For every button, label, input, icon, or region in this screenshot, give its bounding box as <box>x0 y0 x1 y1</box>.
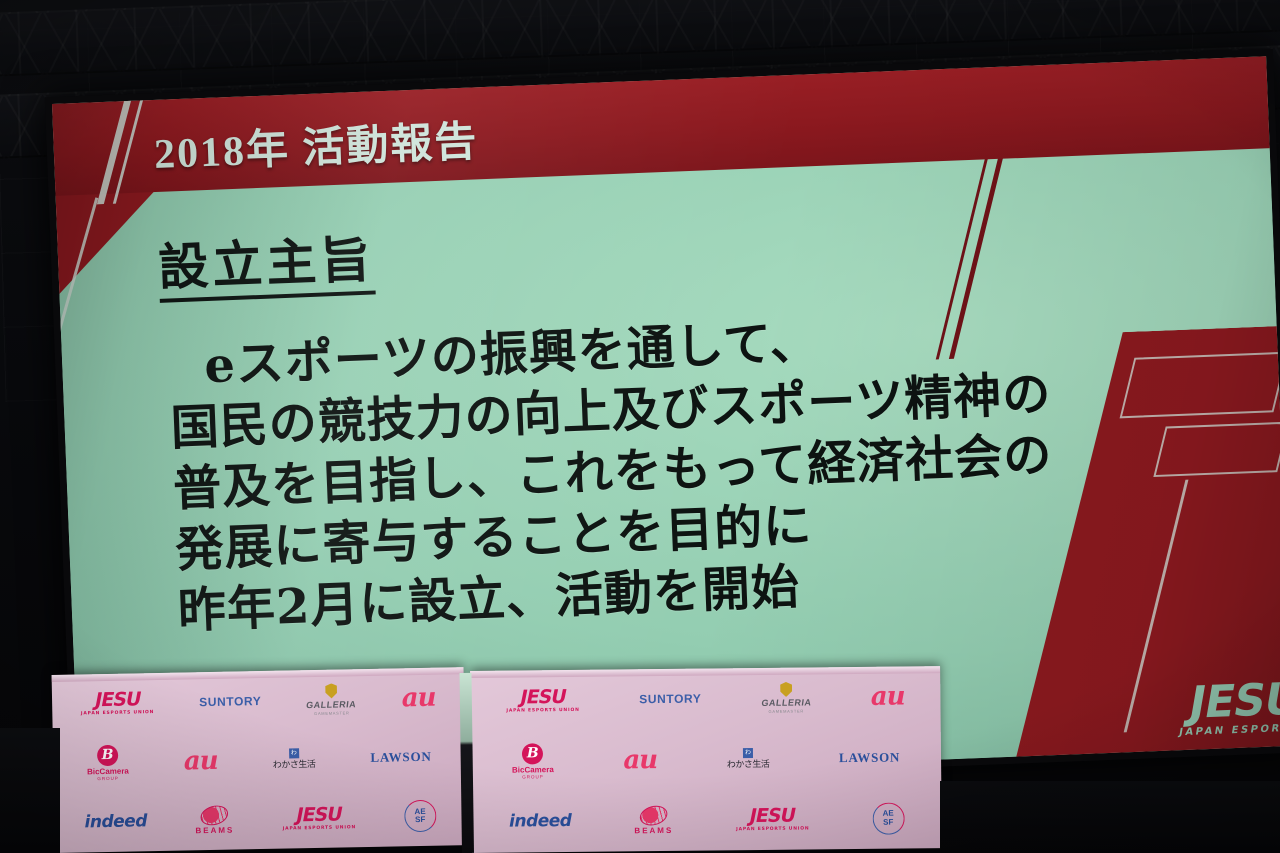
sponsor-logo-galleria: GALLERIAGAMEMASTER <box>306 683 357 716</box>
sponsor-logo-lawson: LAWSON <box>839 751 900 765</box>
sponsor-logo-row: BBicCameraGROUPauわわかさ生活LAWSON <box>471 727 942 793</box>
wakasa-mark-icon: わ <box>289 748 299 758</box>
jesu-logo-wordmark: JESU <box>1180 679 1280 725</box>
sponsor-logo-beams: BEAMS <box>195 805 234 835</box>
slide-section-heading: 設立主旨 <box>157 233 375 302</box>
galleria-crest-icon <box>780 682 792 697</box>
sponsor-logo-aesf: AESF <box>404 800 437 833</box>
sponsor-logo-aesf: AESF <box>872 802 904 834</box>
backdrop-panel-gap <box>459 673 474 853</box>
sponsor-logo-indeed: indeed <box>509 813 572 831</box>
sponsor-logo-au: au <box>184 748 218 775</box>
galleria-crest-icon <box>325 683 337 698</box>
slide-corner-jesu-logo: JESU JAPAN ESPORTS <box>1178 679 1280 739</box>
screenshot-stage: JESU JAPAN ESPORTS 2018年 活動報告 設立主旨 eスポーツ… <box>0 0 1280 853</box>
sponsor-logo-galleria: GALLERIAGAMEMASTER <box>761 682 811 715</box>
sponsor-logo-wakasa: わわかさ生活 <box>273 748 316 771</box>
sponsor-backdrop-right: JESUJAPAN ESPORTS UNIONSUNTORYGALLERIAGA… <box>470 666 942 853</box>
sponsor-logo-row: indeedBEAMSJESUJAPAN ESPORTS UNIONAESF <box>471 787 942 853</box>
stage-floor-left-shadow <box>0 728 60 853</box>
sponsor-logo-jesu: JESUJAPAN ESPORTS UNION <box>736 806 810 832</box>
sponsor-logo-jesu: JESUJAPAN ESPORTS UNION <box>80 690 154 717</box>
aesf-ring-icon: AESF <box>404 800 437 833</box>
biccamera-b-icon: B <box>522 743 543 764</box>
sponsor-logo-biccamera: BBicCameraGROUP <box>87 744 130 781</box>
sponsor-logo-au: au <box>623 747 657 773</box>
sponsor-logo-jesu: JESUJAPAN ESPORTS UNION <box>282 805 356 832</box>
beams-globe-icon <box>638 803 670 828</box>
sponsor-logo-suntory: SUNTORY <box>199 695 261 708</box>
stage-floor-right-shadow <box>940 781 1280 853</box>
sponsor-logo-suntory: SUNTORY <box>639 693 701 706</box>
wakasa-mark-icon: わ <box>743 748 753 758</box>
beams-globe-icon <box>199 802 231 828</box>
slide-body-text: eスポーツの振興を通して、 国民の競技力の向上及びスポーツ精神の 普及を目指し、… <box>167 298 1198 643</box>
sponsor-logo-au: au <box>871 684 905 710</box>
sponsor-logo-row: BBicCameraGROUPauわわかさ生活LAWSON <box>53 726 466 793</box>
sponsor-logo-jesu: JESUJAPAN ESPORTS UNION <box>506 687 580 713</box>
sponsor-logo-au: au <box>401 684 435 711</box>
sponsor-logo-row: indeedBEAMSJESUJAPAN ESPORTS UNIONAESF <box>54 786 467 853</box>
slide-title: 2018年 活動報告 <box>153 107 480 181</box>
sponsor-logo-wakasa: わわかさ生活 <box>727 748 770 770</box>
sponsor-logo-row: JESUJAPAN ESPORTS UNIONSUNTORYGALLERIAGA… <box>470 666 941 732</box>
sponsor-logo-row: JESUJAPAN ESPORTS UNIONSUNTORYGALLERIAGA… <box>52 667 465 734</box>
aesf-ring-icon: AESF <box>872 802 904 834</box>
sponsor-logo-beams: BEAMS <box>634 806 673 835</box>
sponsor-backdrop-left: JESUJAPAN ESPORTS UNIONSUNTORYGALLERIAGA… <box>52 667 467 853</box>
slide-left-decoration <box>52 180 171 336</box>
biccamera-b-icon: B <box>97 744 118 765</box>
sponsor-logo-indeed: indeed <box>84 813 147 831</box>
sponsor-logo-biccamera: BBicCameraGROUP <box>512 743 554 780</box>
sponsor-logo-lawson: LAWSON <box>370 750 431 764</box>
